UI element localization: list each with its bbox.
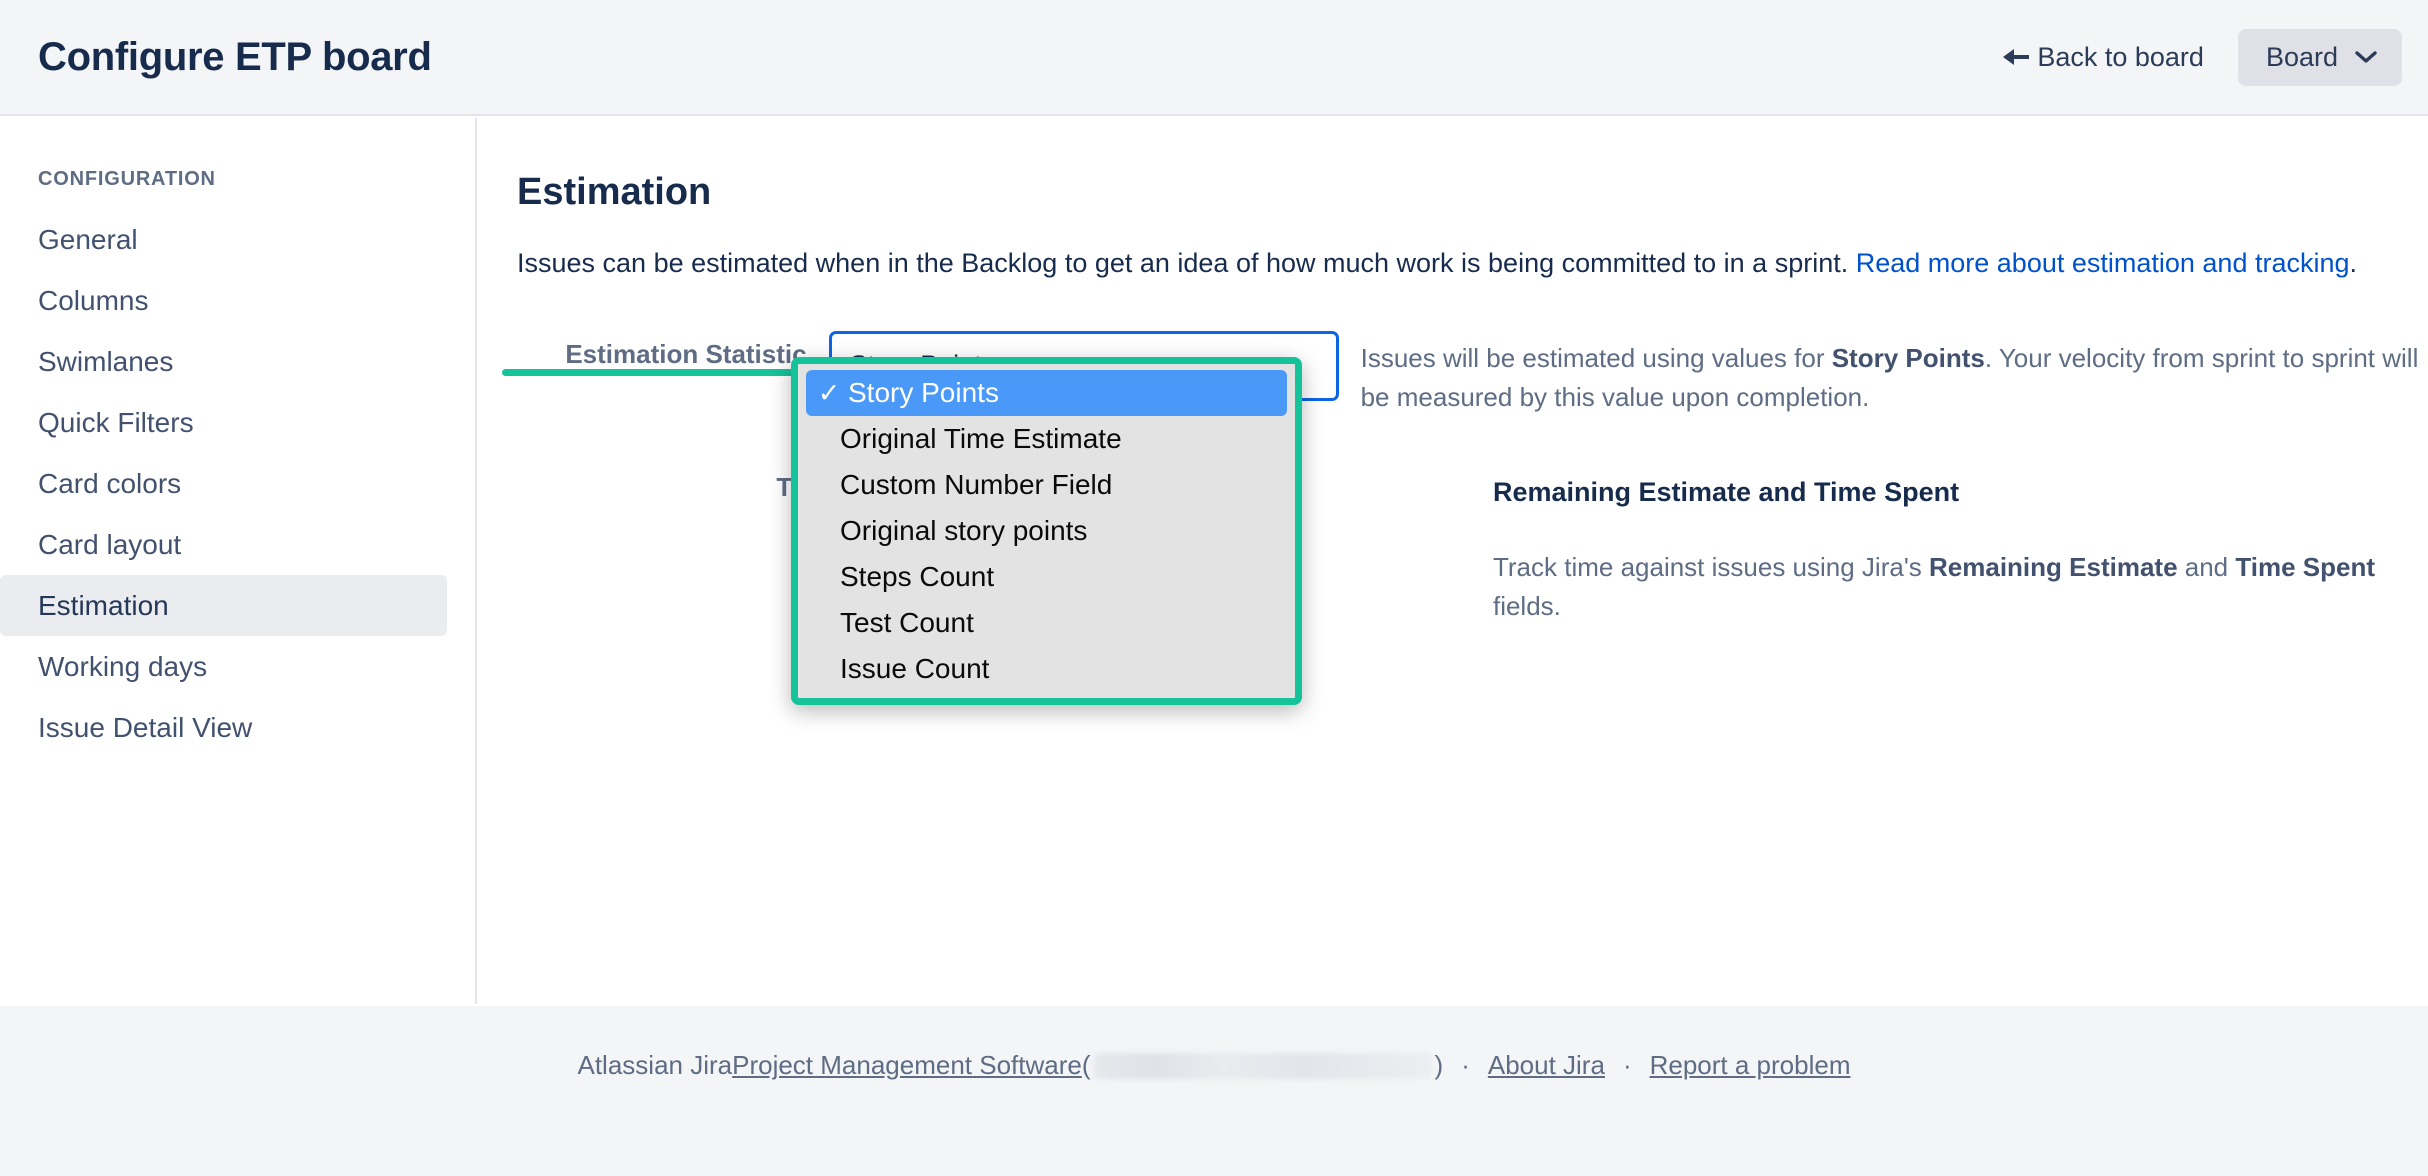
dropdown-option-issue-count[interactable]: Issue Count — [798, 646, 1295, 692]
page-header: Configure ETP board Back to board Board — [0, 0, 2428, 116]
board-button-label: Board — [2266, 42, 2338, 73]
dropdown-option-label: Steps Count — [840, 561, 994, 593]
estimation-statistic-row: Estimation Statistic Story Points Issues… — [479, 331, 2428, 417]
intro-text-tail: . — [2350, 248, 2358, 278]
tt-desc-before: Track time against issues using Jira's — [1493, 552, 1929, 582]
footer-product-link[interactable]: Project Management Software — [732, 1050, 1082, 1081]
dropdown-option-label: Issue Count — [840, 653, 989, 685]
intro-text: Issues can be estimated when in the Back… — [517, 248, 1856, 278]
page-footer: Atlassian Jira Project Management Softwa… — [0, 1006, 2428, 1176]
arrow-left-icon — [2001, 46, 2031, 68]
estimation-statistic-description: Issues will be estimated using values fo… — [1339, 331, 2428, 417]
desc-bold: Story Points — [1832, 343, 1985, 373]
sidebar-item-card-colors[interactable]: Card colors — [0, 453, 447, 514]
check-icon: ✓ — [810, 378, 848, 409]
dropdown-option-story-points[interactable]: ✓ Story Points — [806, 370, 1287, 416]
tt-desc-after: fields. — [1493, 591, 1561, 621]
dropdown-option-original-time-estimate[interactable]: Original Time Estimate — [798, 416, 1295, 462]
time-tracking-description: Track time against issues using Jira's R… — [1493, 548, 2428, 626]
estimation-statistic-label-text: Estimation Statistic — [565, 339, 806, 369]
estimation-statistic-label: Estimation Statistic — [479, 331, 829, 370]
dropdown-option-label: Original story points — [840, 515, 1087, 547]
sidebar-item-working-days[interactable]: Working days — [0, 636, 447, 697]
estimation-statistic-dropdown-menu[interactable]: ✓ Story Points Original Time Estimate Cu… — [791, 357, 1302, 705]
back-to-board-link[interactable]: Back to board — [2001, 42, 2204, 73]
footer-separator-1: · — [1443, 1050, 1488, 1081]
footer-paren-open: ( — [1082, 1050, 1091, 1081]
configure-board-page: Configure ETP board Back to board Board … — [0, 0, 2428, 1176]
intro-paragraph: Issues can be estimated when in the Back… — [517, 244, 2390, 284]
board-dropdown-button[interactable]: Board — [2238, 29, 2402, 86]
footer-paren-close: ) — [1435, 1050, 1444, 1081]
sidebar-item-estimation[interactable]: Estimation — [0, 575, 447, 636]
sidebar-heading: CONFIGURATION — [38, 168, 475, 191]
page-title: Configure ETP board — [38, 35, 432, 80]
redacted-version-text — [1094, 1053, 1432, 1079]
time-tracking-heading: Remaining Estimate and Time Spent — [1493, 472, 2428, 513]
configuration-sidebar: CONFIGURATION General Columns Swimlanes … — [0, 118, 477, 1004]
dropdown-option-label: Custom Number Field — [840, 469, 1112, 501]
sidebar-item-swimlanes[interactable]: Swimlanes — [0, 331, 447, 392]
sidebar-item-quick-filters[interactable]: Quick Filters — [0, 392, 447, 453]
time-tracking-row: Time Tracking Remaining Estimate and Tim… — [479, 464, 2428, 627]
sidebar-item-issue-detail-view[interactable]: Issue Detail View — [0, 697, 447, 758]
footer-separator-2: · — [1605, 1050, 1650, 1081]
desc-before: Issues will be estimated using values fo… — [1361, 343, 1832, 373]
time-tracking-block: Remaining Estimate and Time Spent Track … — [1471, 464, 2428, 627]
label-highlight-underline — [502, 369, 808, 376]
dropdown-option-label: Original Time Estimate — [840, 423, 1122, 455]
footer-prefix: Atlassian Jira — [577, 1050, 732, 1081]
main-content: Estimation Issues can be estimated when … — [479, 118, 2428, 1004]
dropdown-option-label: Test Count — [840, 607, 974, 639]
back-to-board-label: Back to board — [2037, 42, 2204, 73]
footer-about-jira-link[interactable]: About Jira — [1488, 1050, 1605, 1081]
estimation-docs-link[interactable]: Read more about estimation and tracking — [1856, 248, 2350, 278]
sidebar-item-general[interactable]: General — [0, 209, 447, 270]
sidebar-item-card-layout[interactable]: Card layout — [0, 514, 447, 575]
tt-bold-remaining-estimate: Remaining Estimate — [1929, 552, 2178, 582]
section-title: Estimation — [517, 171, 2428, 214]
tt-bold-time-spent: Time Spent — [2235, 552, 2375, 582]
dropdown-option-label: Story Points — [848, 377, 999, 409]
dropdown-option-steps-count[interactable]: Steps Count — [798, 554, 1295, 600]
dropdown-option-custom-number-field[interactable]: Custom Number Field — [798, 462, 1295, 508]
sidebar-item-columns[interactable]: Columns — [0, 270, 447, 331]
header-actions: Back to board Board — [2001, 29, 2402, 86]
dropdown-option-test-count[interactable]: Test Count — [798, 600, 1295, 646]
footer-report-problem-link[interactable]: Report a problem — [1650, 1050, 1851, 1081]
tt-middle: and — [2178, 552, 2236, 582]
dropdown-option-original-story-points[interactable]: Original story points — [798, 508, 1295, 554]
footer-content: Atlassian Jira Project Management Softwa… — [577, 1050, 1850, 1081]
chevron-down-icon — [2354, 49, 2378, 65]
